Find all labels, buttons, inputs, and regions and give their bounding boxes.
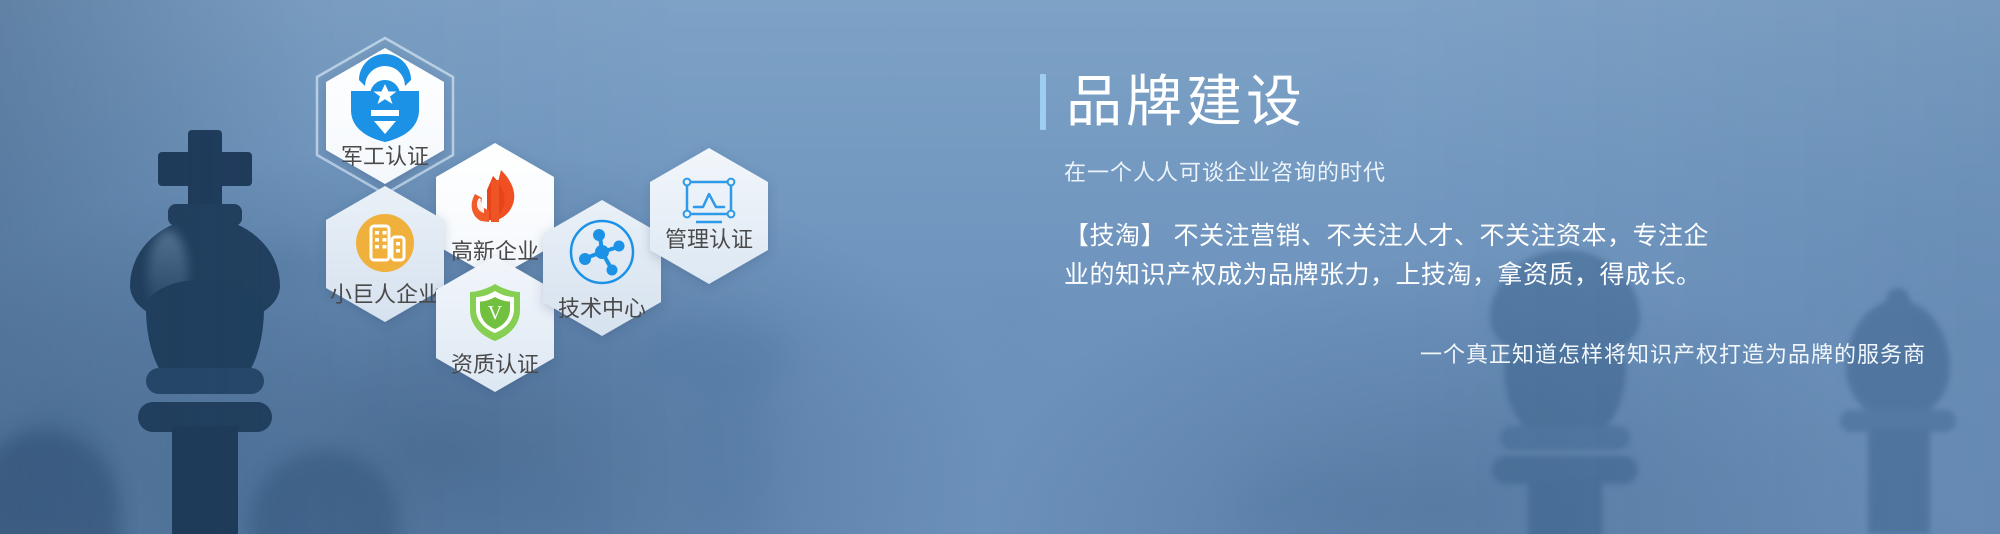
badge-quality-label: 资质认证 [451,352,539,377]
badge-management-label: 管理认证 [665,227,753,252]
headline-row: 品牌建设 [1040,74,1940,130]
badge-management-face [650,148,768,284]
banner-copy: 品牌建设 在一个人人可谈企业咨询的时代 【技淘】 不关注营销、不关注人才、不关注… [1040,74,1940,371]
badge-management[interactable]: 管理认证 [650,148,768,284]
buildings-circle-icon [356,214,414,272]
subtitle: 在一个人人可谈企业咨询的时代 [1064,158,1940,189]
badge-military[interactable]: 军工认证 [317,38,453,194]
body-line-1: 【技淘】 不关注营销、不关注人才、不关注资本，专注企 [1064,217,1940,256]
tagline: 一个真正知道怎样将知识产权打造为品牌的服务商 [1040,340,1940,371]
body-line-2: 业的知识产权成为品牌张力，上技淘，拿资质，得成长。 [1064,256,1940,295]
certification-hex-cluster: 军工认证 高新企业 [310,38,830,358]
brand-building-banner: 军工认证 高新企业 [0,0,2000,534]
page-title: 品牌建设 [1066,74,1306,130]
svg-text:V: V [488,302,503,324]
badge-military-label: 军工认证 [341,144,429,169]
badge-techcenter-label: 技术中心 [558,296,646,321]
badge-littlegiant-label: 小巨人企业 [330,282,440,307]
accent-bar [1040,74,1046,130]
badge-littlegiant[interactable]: 小巨人企业 [326,186,444,322]
badge-quality[interactable]: V 资质认证 [436,256,554,392]
badge-techcenter[interactable]: 技术中心 [543,200,661,336]
